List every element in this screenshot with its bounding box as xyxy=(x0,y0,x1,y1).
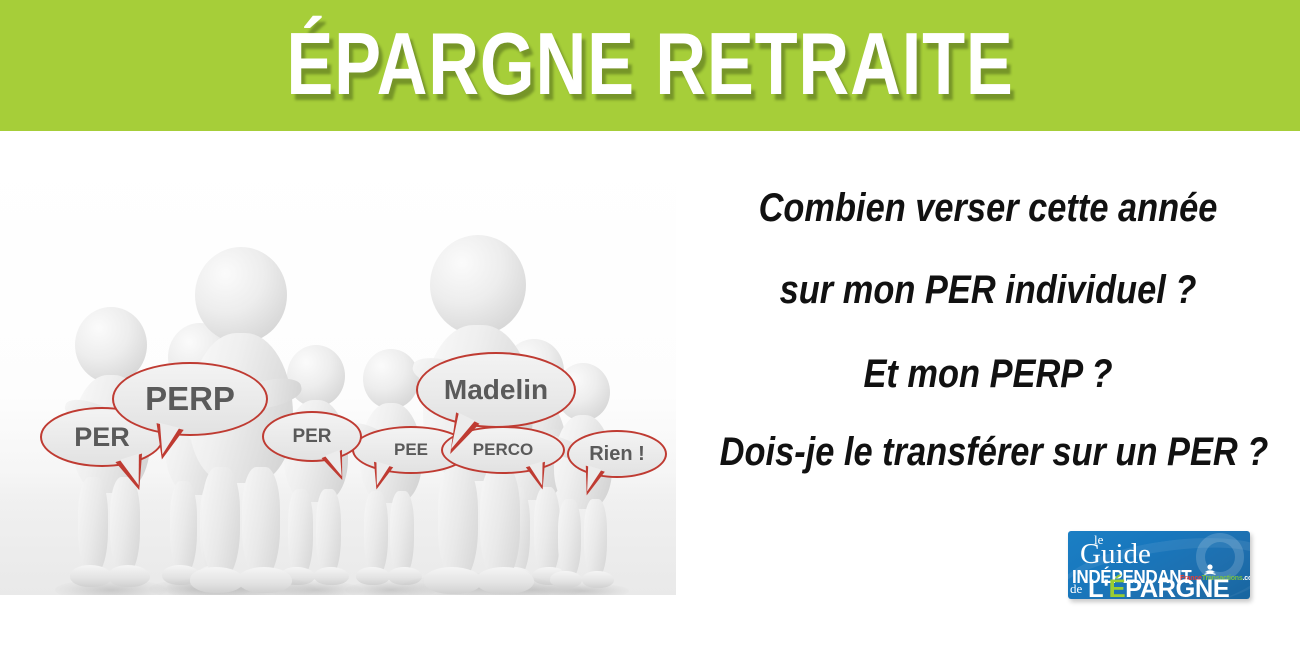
speech-bubble-perp: PERP xyxy=(112,362,268,436)
speech-bubble-per-2: PER xyxy=(262,411,362,462)
logo-epargne-suffix: PARGNE xyxy=(1125,575,1229,599)
questions-block: Combien verser cette année sur mon PER i… xyxy=(676,152,1300,552)
speech-bubble-label: PEE xyxy=(394,440,428,460)
logo-epargne-prefix: L' xyxy=(1088,575,1109,599)
ft-white-part: .com xyxy=(1243,575,1250,582)
page-title: ÉPARGNE RETRAITE xyxy=(130,12,1170,116)
speech-bubble-rien: Rien ! xyxy=(567,430,667,478)
question-line-2: sur mon PER individuel ? xyxy=(720,268,1257,313)
brand-logo[interactable]: le Guide INDÉPENDANT FranceTransactions.… xyxy=(1068,531,1250,599)
speech-bubble-label: Madelin xyxy=(444,374,548,406)
header-banner: ÉPARGNE RETRAITE xyxy=(0,0,1300,131)
logo-guide-text: Guide xyxy=(1080,539,1151,569)
question-line-3: Et mon PERP ? xyxy=(720,352,1257,397)
question-line-4: Dois-je le transférer sur un PER ? xyxy=(720,430,1257,475)
logo-epargne-text: L'ÉPARGNE xyxy=(1088,575,1229,599)
speech-bubble-label: PERCO xyxy=(473,440,533,460)
speech-bubble-label: Rien ! xyxy=(589,443,645,466)
speech-bubble-madelin: Madelin xyxy=(416,352,576,428)
speech-bubble-label: PER xyxy=(292,426,331,448)
logo-de-text: de xyxy=(1070,581,1082,597)
illustration-panel: PER PERP PER PEE Madelin PERCO xyxy=(0,152,676,595)
poster-canvas: ÉPARGNE RETRAITE xyxy=(0,0,1300,650)
logo-epargne-accent: É xyxy=(1109,575,1126,599)
question-line-1: Combien verser cette année xyxy=(720,186,1257,231)
speech-bubble-label: PER xyxy=(74,422,130,453)
speech-bubble-label: PERP xyxy=(145,380,235,418)
